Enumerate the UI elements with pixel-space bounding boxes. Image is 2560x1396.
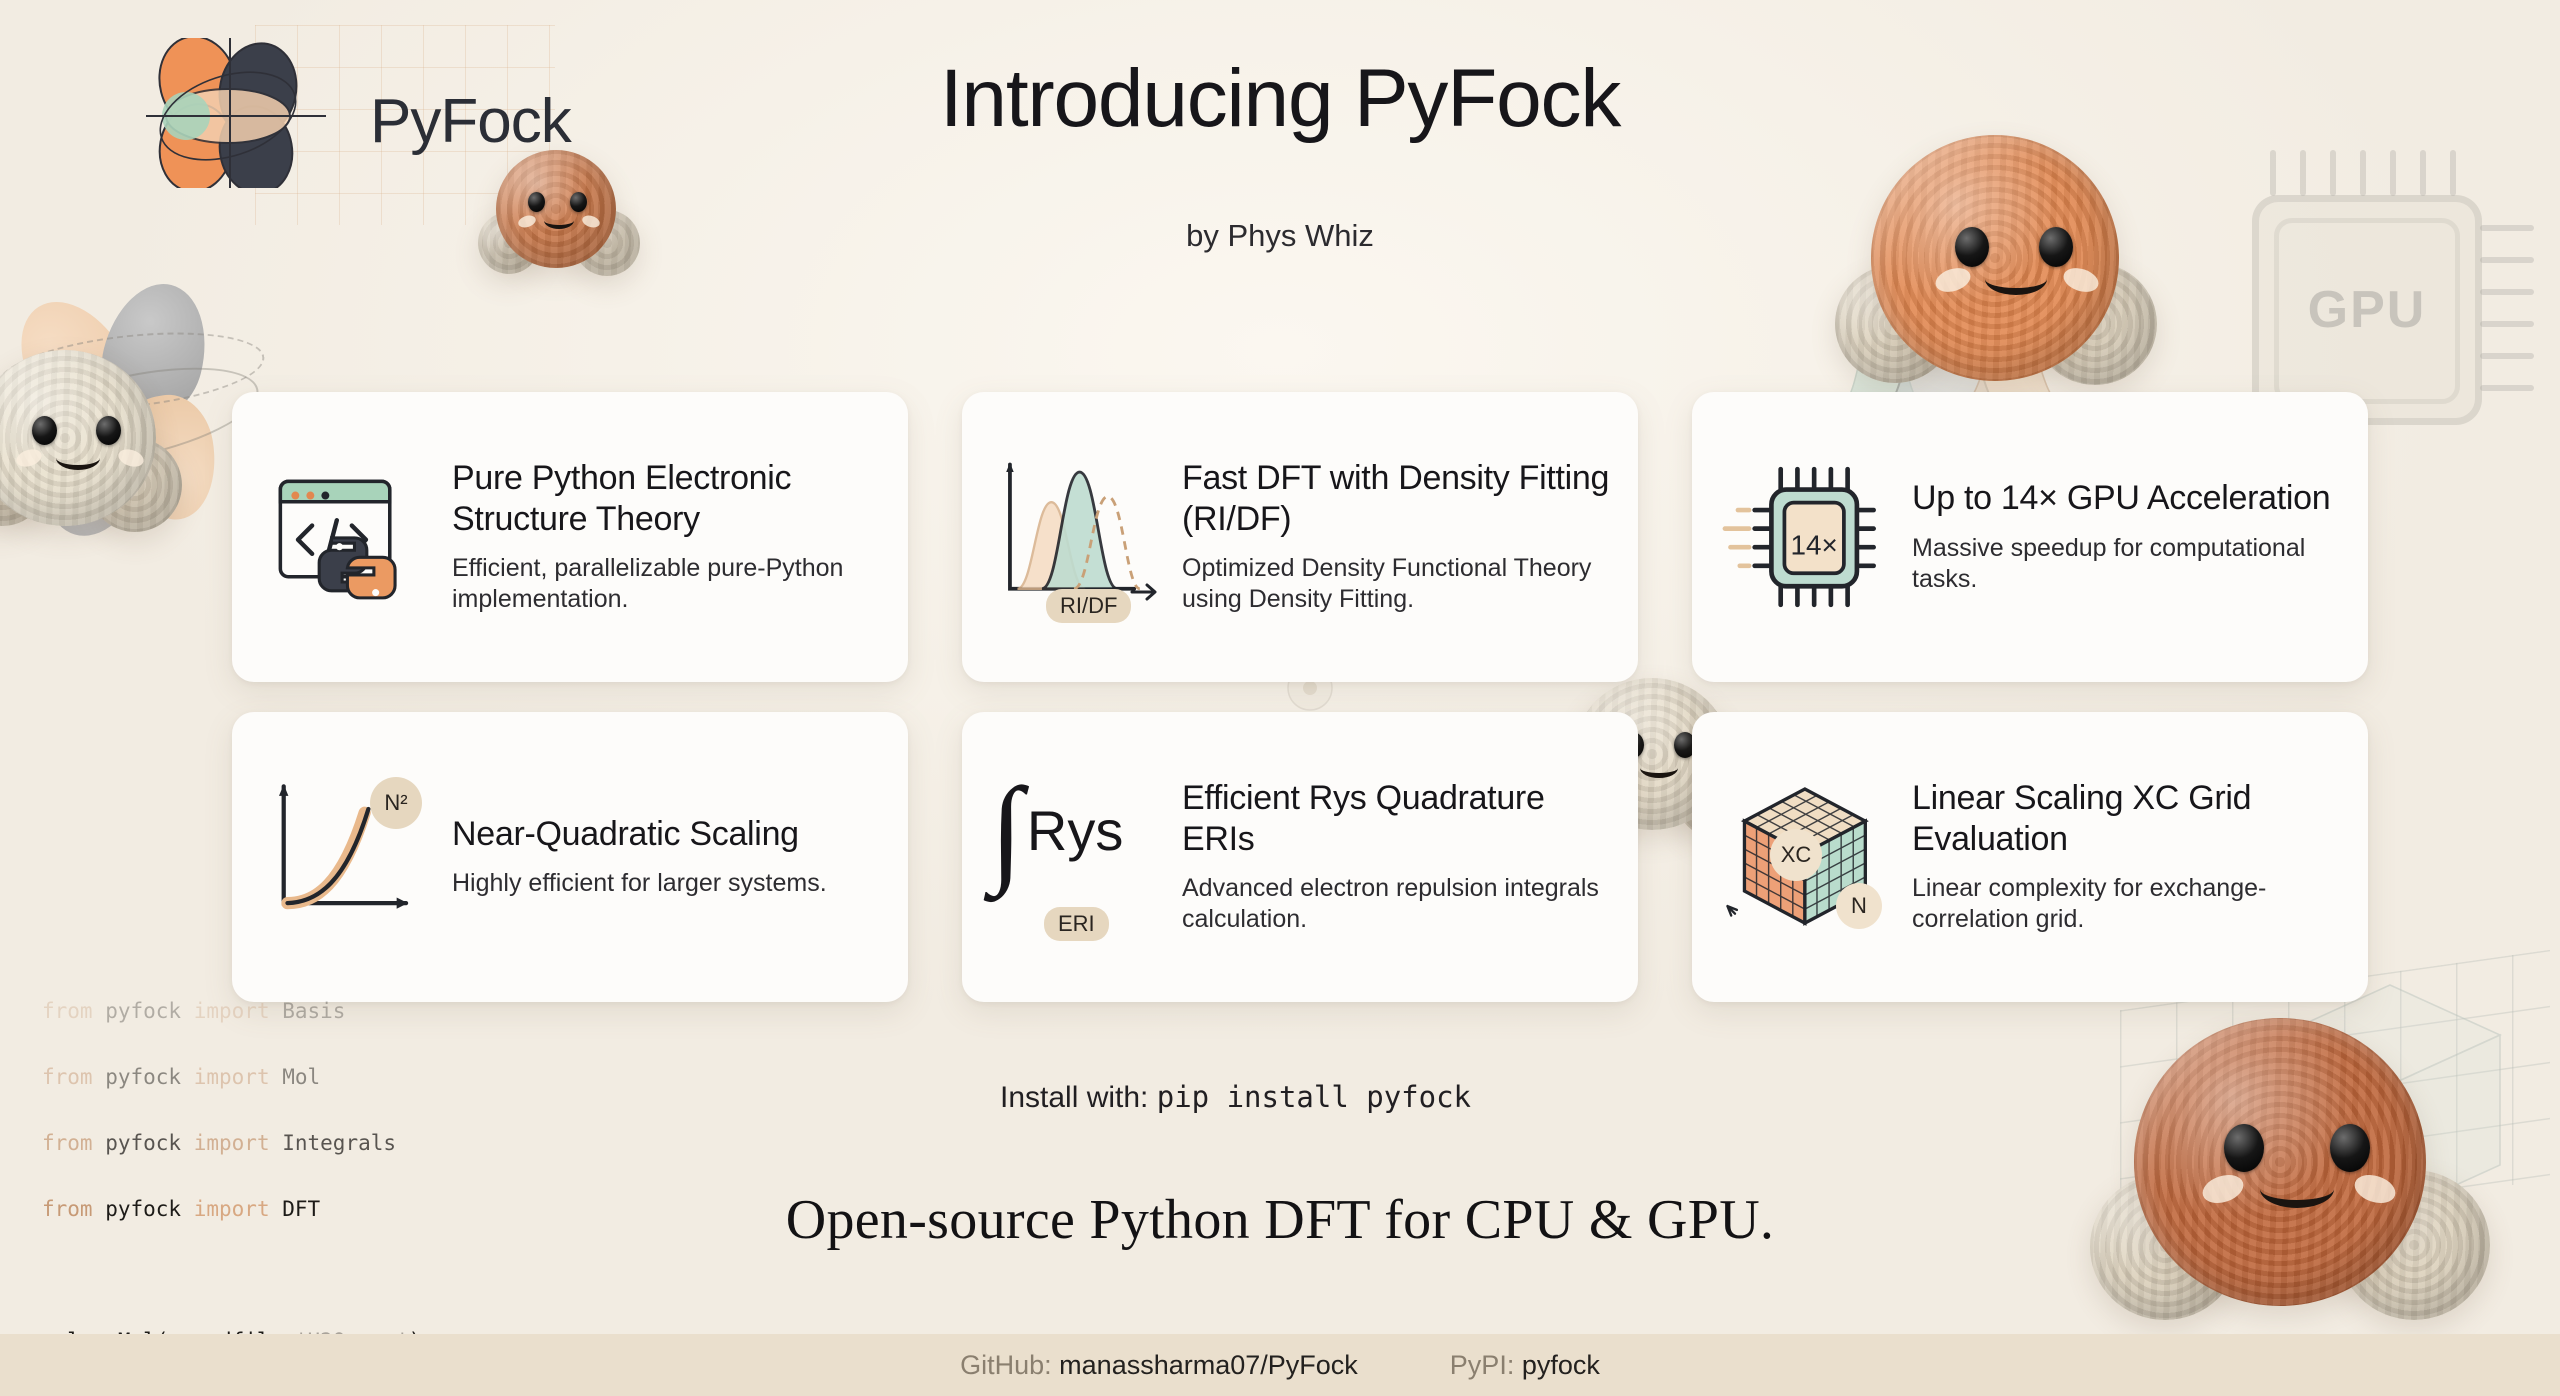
- code-line: [42, 1259, 978, 1292]
- feature-card-body: Up to 14× GPU Acceleration Massive speed…: [1912, 478, 2340, 595]
- feature-card-body: Linear Scaling XC Grid Evaluation Linear…: [1912, 778, 2340, 935]
- install-command: pip install pyfock: [1157, 1080, 1471, 1114]
- code-line: from pyfock import Integrals: [42, 1127, 978, 1160]
- feature-card-title: Linear Scaling XC Grid Evaluation: [1912, 778, 2340, 858]
- xc-badge: XC: [1770, 829, 1822, 881]
- svg-text:14×: 14×: [1791, 530, 1838, 561]
- footer-pypi-value: pyfock: [1522, 1350, 1600, 1380]
- feature-card-density-fitting[interactable]: RI/DF Fast DFT with Density Fitting (RI/…: [962, 392, 1638, 682]
- integral-sign-icon: ∫: [990, 779, 1023, 881]
- gpu-watermark-pins-top: [2252, 150, 2482, 198]
- feature-card-xc-grid[interactable]: XC N Linear Scaling XC Grid Evaluation L…: [1692, 712, 2368, 1002]
- feature-card-title: Near-Quadratic Scaling: [452, 814, 880, 854]
- feature-card-desc: Efficient, parallelizable pure-Python im…: [452, 553, 880, 616]
- footer-github-value: manassharma07/PyFock: [1059, 1350, 1358, 1380]
- poster-canvas: PyFock Introducing PyFock by Phys Whiz: [0, 0, 2560, 1396]
- code-window-python-icon: [258, 447, 428, 627]
- n-squared-badge: N²: [370, 777, 422, 829]
- feature-card-desc: Optimized Density Functional Theory usin…: [1182, 553, 1610, 616]
- feature-card-body: Near-Quadratic Scaling Highly efficient …: [452, 814, 880, 900]
- install-label: Install with:: [1000, 1081, 1148, 1114]
- eri-badge: ERI: [1044, 907, 1109, 941]
- page-title: Introducing PyFock: [0, 52, 2560, 146]
- feature-card-title: Up to 14× GPU Acceleration: [1912, 478, 2340, 518]
- feature-card-title: Efficient Rys Quadrature ERIs: [1182, 778, 1610, 858]
- n-badge: N: [1836, 883, 1882, 929]
- footer-pypi-label: PyPI:: [1450, 1350, 1515, 1380]
- feature-card-body: Fast DFT with Density Fitting (RI/DF) Op…: [1182, 458, 1610, 615]
- xc-grid-cube-icon: XC N: [1718, 767, 1888, 947]
- quadratic-curve-icon: N²: [258, 767, 428, 947]
- feature-card-rys-eri[interactable]: ∫ Rys ERI Efficient Rys Quadrature ERIs …: [962, 712, 1638, 1002]
- rys-label: Rys: [1027, 798, 1123, 863]
- code-snippet: from pyfock import Basis from pyfock imp…: [42, 962, 978, 1396]
- feature-card-desc: Massive speedup for computational tasks.: [1912, 533, 2340, 596]
- amigurumi-top-right: [1835, 135, 2155, 405]
- feature-card-near-quadratic[interactable]: N² Near-Quadratic Scaling Highly efficie…: [232, 712, 908, 1002]
- gpu-chip-icon: 14×: [1718, 447, 1888, 627]
- footer-bar: GitHub: manassharma07/PyFock PyPI: pyfoc…: [0, 1334, 2560, 1396]
- amigurumi-left: [0, 350, 190, 560]
- feature-card-grid: Pure Python Electronic Structure Theory …: [232, 392, 2340, 1002]
- arrow-right-icon: [1130, 579, 1160, 605]
- feature-card-desc: Linear complexity for exchange-correlati…: [1912, 873, 2340, 936]
- ridf-badge: RI/DF: [1046, 589, 1131, 623]
- footer-github[interactable]: GitHub: manassharma07/PyFock: [960, 1350, 1358, 1381]
- page-byline: by Phys Whiz: [0, 218, 2560, 254]
- integral-rys-icon: ∫ Rys ERI: [988, 767, 1158, 947]
- feature-card-gpu-acceleration[interactable]: 14× Up to 14× GPU Acceleration Massive s…: [1692, 392, 2368, 682]
- feature-card-desc: Advanced electron repulsion integrals ca…: [1182, 873, 1610, 936]
- feature-card-desc: Highly efficient for larger systems.: [452, 868, 880, 900]
- footer-pypi[interactable]: PyPI: pyfock: [1450, 1350, 1600, 1381]
- amigurumi-bottom-right: [2090, 1018, 2490, 1348]
- tagline: Open-source Python DFT for CPU & GPU.: [0, 1188, 2560, 1252]
- footer-github-label: GitHub:: [960, 1350, 1052, 1380]
- density-peaks-icon: RI/DF: [988, 447, 1158, 627]
- code-line: from pyfock import Basis: [42, 995, 978, 1028]
- feature-card-title: Pure Python Electronic Structure Theory: [452, 458, 880, 538]
- code-line: from pyfock import Mol: [42, 1061, 978, 1094]
- feature-card-title: Fast DFT with Density Fitting (RI/DF): [1182, 458, 1610, 538]
- feature-card-pure-python[interactable]: Pure Python Electronic Structure Theory …: [232, 392, 908, 682]
- install-instruction: Install with: pip install pyfock: [1000, 1080, 1471, 1115]
- feature-card-body: Efficient Rys Quadrature ERIs Advanced e…: [1182, 778, 1610, 935]
- feature-card-body: Pure Python Electronic Structure Theory …: [452, 458, 880, 615]
